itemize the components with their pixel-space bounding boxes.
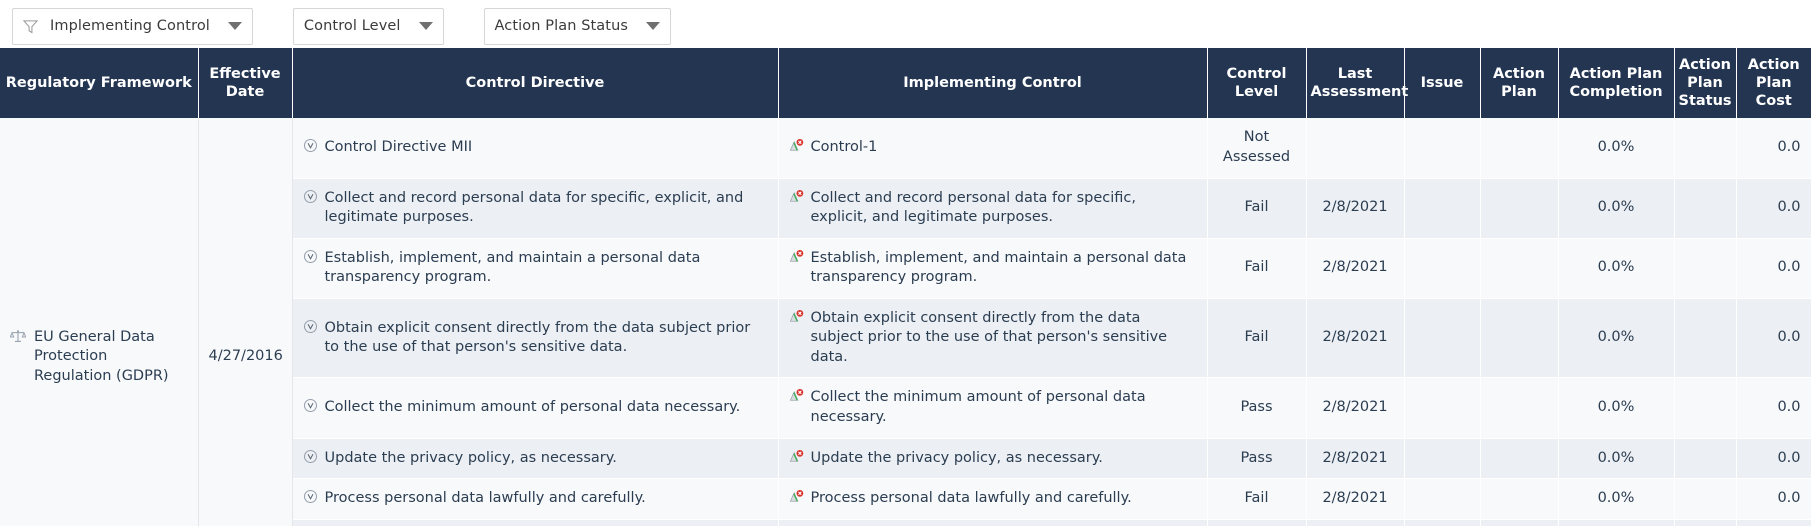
cell-implementing-control[interactable]: Establish, implement, and maintain a per… xyxy=(778,238,1207,298)
directive-circle-icon xyxy=(303,189,318,204)
cell-action-plan-completion: 0.0% xyxy=(1558,438,1674,479)
cell-issue[interactable] xyxy=(1404,178,1480,238)
cell-last-assessment: 2/8/2021 xyxy=(1306,378,1404,438)
directive-circle-icon xyxy=(303,449,318,464)
cell-regulatory-framework[interactable]: EU General Data Protection Regulation (G… xyxy=(0,118,198,526)
control-directive-label: Control Directive MII xyxy=(325,138,768,158)
filter-implementing-control[interactable]: Implementing Control xyxy=(12,8,253,45)
cell-implementing-control[interactable]: Obtain explicit consent directly from th… xyxy=(778,298,1207,378)
cell-action-plan-cost: 1000.0 xyxy=(1736,519,1811,526)
scales-balance-icon xyxy=(10,328,26,344)
regulatory-framework-label: EU General Data Protection Regulation (G… xyxy=(34,328,188,387)
cell-control-level: Fail xyxy=(1207,519,1306,526)
cell-control-level: Fail xyxy=(1207,479,1306,520)
cell-action-plan-completion: 0.0% xyxy=(1558,479,1674,520)
cell-action-plan[interactable] xyxy=(1480,238,1558,298)
cell-action-plan-status xyxy=(1674,479,1736,520)
col-header-issue[interactable]: Issue xyxy=(1404,48,1480,118)
toolbar-spacer-1 xyxy=(253,26,293,27)
cell-implementing-control[interactable]: Update the privacy policy, as necessary. xyxy=(778,438,1207,479)
cell-action-plan[interactable]: Action Plan-3 xyxy=(1480,519,1558,526)
cell-control-level: Not Assessed xyxy=(1207,118,1306,178)
cell-implementing-control[interactable]: Control-1 xyxy=(778,118,1207,178)
col-header-action-plan-status[interactable]: Action Plan Status xyxy=(1674,48,1736,118)
cell-control-directive[interactable]: Establish, implement, and maintain a per… xyxy=(292,238,778,298)
filter-control-level-label: Control Level xyxy=(304,18,401,34)
cell-action-plan-status xyxy=(1674,378,1736,438)
cell-issue[interactable] xyxy=(1404,298,1480,378)
cell-action-plan-status xyxy=(1674,118,1736,178)
cell-action-plan[interactable] xyxy=(1480,118,1558,178)
cell-action-plan-cost: 0.0 xyxy=(1736,438,1811,479)
filter-action-plan-status-label: Action Plan Status xyxy=(495,18,628,34)
cell-control-directive[interactable]: Process personal data lawfully and caref… xyxy=(292,479,778,520)
directive-circle-icon xyxy=(303,319,318,334)
chevron-down-icon[interactable] xyxy=(419,22,433,30)
table-header-row: Regulatory Framework Effective Date Cont… xyxy=(0,48,1811,118)
table-row[interactable]: EU General Data Protection Regulation (G… xyxy=(0,118,1811,178)
col-header-action-plan-completion[interactable]: Action Plan Completion xyxy=(1558,48,1674,118)
cell-control-directive[interactable]: Process personal data for statistical pu… xyxy=(292,519,778,526)
cell-effective-date: 4/27/2016 xyxy=(198,118,292,526)
cell-action-plan-completion: 30.0% xyxy=(1558,519,1674,526)
cell-implementing-control[interactable]: Process personal data for statistical pu… xyxy=(778,519,1207,526)
cell-issue[interactable] xyxy=(1404,118,1480,178)
cell-action-plan-cost: 0.0 xyxy=(1736,118,1811,178)
implementing-control-icon xyxy=(789,449,804,464)
filter-toolbar: Implementing Control Control Level Actio… xyxy=(0,0,1811,48)
cell-action-plan[interactable] xyxy=(1480,298,1558,378)
implementing-control-label: Establish, implement, and maintain a per… xyxy=(811,249,1197,288)
cell-issue[interactable] xyxy=(1404,479,1480,520)
cell-implementing-control[interactable]: Collect and record personal data for spe… xyxy=(778,178,1207,238)
filter-action-plan-status[interactable]: Action Plan Status xyxy=(484,8,671,45)
cell-implementing-control[interactable]: Process personal data lawfully and caref… xyxy=(778,479,1207,520)
col-header-action-plan[interactable]: Action Plan xyxy=(1480,48,1558,118)
cell-last-assessment: 2/8/2021 xyxy=(1306,238,1404,298)
cell-action-plan-completion: 0.0% xyxy=(1558,178,1674,238)
cell-action-plan-status xyxy=(1674,238,1736,298)
directive-circle-icon xyxy=(303,489,318,504)
cell-last-assessment xyxy=(1306,118,1404,178)
cell-implementing-control[interactable]: Collect the minimum amount of personal d… xyxy=(778,378,1207,438)
cell-action-plan-cost: 0.0 xyxy=(1736,178,1811,238)
cell-action-plan-completion: 0.0% xyxy=(1558,378,1674,438)
cell-control-level: Fail xyxy=(1207,238,1306,298)
control-directive-label: Process personal data lawfully and caref… xyxy=(325,489,768,509)
toolbar-spacer-2 xyxy=(444,26,484,27)
implementing-control-icon xyxy=(789,189,804,204)
filter-implementing-control-label: Implementing Control xyxy=(50,18,210,34)
cell-action-plan-cost: 0.0 xyxy=(1736,298,1811,378)
cell-action-plan-cost: 0.0 xyxy=(1736,479,1811,520)
cell-action-plan-cost: 0.0 xyxy=(1736,378,1811,438)
cell-action-plan[interactable] xyxy=(1480,438,1558,479)
cell-last-assessment: 2/8/2021 xyxy=(1306,298,1404,378)
cell-control-level: Fail xyxy=(1207,178,1306,238)
cell-issue[interactable] xyxy=(1404,438,1480,479)
table-body: EU General Data Protection Regulation (G… xyxy=(0,118,1811,526)
cell-control-level: Pass xyxy=(1207,438,1306,479)
chevron-down-icon[interactable] xyxy=(646,22,660,30)
cell-action-plan-cost: 0.0 xyxy=(1736,238,1811,298)
implementing-control-icon xyxy=(789,249,804,264)
cell-action-plan-status xyxy=(1674,178,1736,238)
filter-control-level[interactable]: Control Level xyxy=(293,8,444,45)
cell-action-plan-completion: 0.0% xyxy=(1558,118,1674,178)
col-header-implementing-control[interactable]: Implementing Control xyxy=(778,48,1207,118)
chevron-down-icon[interactable] xyxy=(228,22,242,30)
col-header-control-level[interactable]: Control Level xyxy=(1207,48,1306,118)
control-directive-label: Collect and record personal data for spe… xyxy=(325,189,768,228)
cell-last-assessment: 2/8/2021 xyxy=(1306,178,1404,238)
col-header-effective-date[interactable]: Effective Date xyxy=(198,48,292,118)
control-directive-label: Update the privacy policy, as necessary. xyxy=(325,449,768,469)
implementing-control-icon xyxy=(789,309,804,324)
cell-control-level: Pass xyxy=(1207,378,1306,438)
directive-circle-icon xyxy=(303,138,318,153)
cell-action-plan-status xyxy=(1674,438,1736,479)
implementing-control-label: Control-1 xyxy=(811,138,1197,158)
implementing-control-icon xyxy=(789,138,804,153)
cell-action-plan-completion: 0.0% xyxy=(1558,298,1674,378)
control-directive-label: Collect the minimum amount of personal d… xyxy=(325,398,768,418)
directive-circle-icon xyxy=(303,398,318,413)
compliance-table: Regulatory Framework Effective Date Cont… xyxy=(0,48,1811,526)
cell-control-directive[interactable]: Update the privacy policy, as necessary. xyxy=(292,438,778,479)
col-header-regulatory-framework[interactable]: Regulatory Framework xyxy=(0,48,198,118)
funnel-icon xyxy=(23,19,38,34)
cell-last-assessment: 2/8/2021 xyxy=(1306,519,1404,526)
cell-issue[interactable]: Issue-1 xyxy=(1404,519,1480,526)
implementing-control-label: Collect and record personal data for spe… xyxy=(811,189,1197,228)
cell-control-directive[interactable]: Obtain explicit consent directly from th… xyxy=(292,298,778,378)
implementing-control-label: Obtain explicit consent directly from th… xyxy=(811,309,1197,368)
compliance-grid-page: Implementing Control Control Level Actio… xyxy=(0,0,1811,526)
cell-action-plan-status: On Time xyxy=(1674,519,1736,526)
cell-control-directive[interactable]: Control Directive MII xyxy=(292,118,778,178)
cell-action-plan[interactable] xyxy=(1480,378,1558,438)
cell-issue[interactable] xyxy=(1404,378,1480,438)
implementing-control-label: Collect the minimum amount of personal d… xyxy=(811,388,1197,427)
cell-control-level: Fail xyxy=(1207,298,1306,378)
cell-control-directive[interactable]: Collect and record personal data for spe… xyxy=(292,178,778,238)
cell-action-plan-completion: 0.0% xyxy=(1558,238,1674,298)
implementing-control-icon xyxy=(789,489,804,504)
cell-action-plan-status xyxy=(1674,298,1736,378)
directive-circle-icon xyxy=(303,249,318,264)
cell-control-directive[interactable]: Collect the minimum amount of personal d… xyxy=(292,378,778,438)
cell-last-assessment: 2/8/2021 xyxy=(1306,479,1404,520)
implementing-control-icon xyxy=(789,388,804,403)
cell-last-assessment: 2/8/2021 xyxy=(1306,438,1404,479)
col-header-last-assessment[interactable]: Last Assessment xyxy=(1306,48,1404,118)
control-directive-label: Obtain explicit consent directly from th… xyxy=(325,319,768,358)
col-header-control-directive[interactable]: Control Directive xyxy=(292,48,778,118)
implementing-control-label: Update the privacy policy, as necessary. xyxy=(811,449,1197,469)
implementing-control-label: Process personal data lawfully and caref… xyxy=(811,489,1197,509)
col-header-action-plan-cost[interactable]: Action Plan Cost xyxy=(1736,48,1811,118)
control-directive-label: Establish, implement, and maintain a per… xyxy=(325,249,768,288)
cell-issue[interactable] xyxy=(1404,238,1480,298)
cell-action-plan[interactable] xyxy=(1480,178,1558,238)
cell-action-plan[interactable] xyxy=(1480,479,1558,520)
